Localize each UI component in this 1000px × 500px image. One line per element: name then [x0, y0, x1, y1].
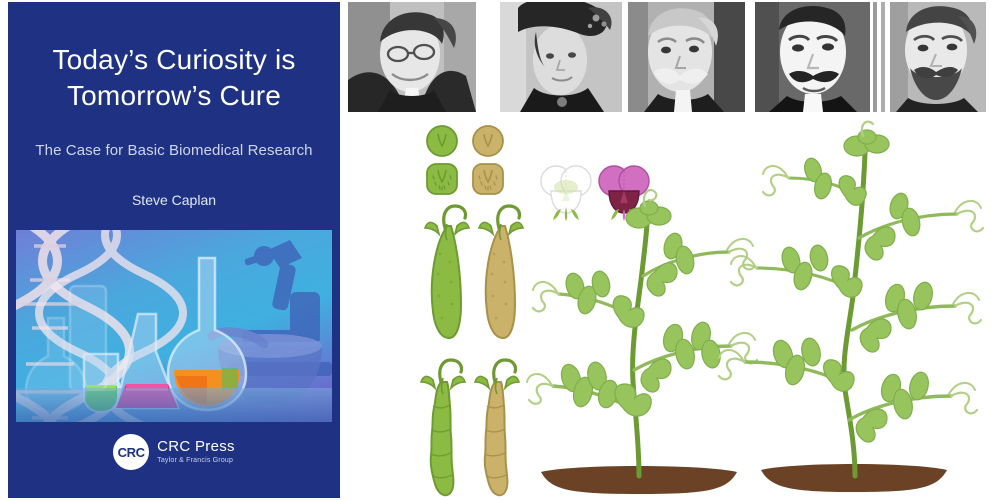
plant-tall	[715, 132, 995, 500]
seed-round-yellow-icon	[471, 124, 505, 158]
publisher-name: CRC Press	[157, 439, 235, 455]
portrait-sliver-2	[881, 2, 885, 112]
book-cover: Today’s Curiosity is Tomorrow’s Cure The…	[8, 2, 340, 498]
genetics-diagram	[345, 112, 1000, 500]
publisher-imprint: Taylor & Francis Group	[157, 457, 235, 464]
publisher-logo: CRC CRC Press Taylor & Francis Group	[8, 434, 340, 470]
seed-wrinkled-yellow-icon	[471, 162, 505, 196]
book-subtitle: The Case for Basic Biomedical Research	[8, 142, 340, 159]
portrait-2	[500, 2, 622, 112]
book-title-line-2: Tomorrow’s Cure	[8, 78, 340, 114]
crc-logo-mark: CRC	[113, 434, 149, 470]
book-title: Today’s Curiosity is Tomorrow’s Cure	[8, 42, 340, 114]
portrait-3	[628, 2, 745, 112]
cover-photograph	[16, 230, 332, 422]
portrait-strip	[345, 2, 995, 112]
seed-round-green-icon	[425, 124, 459, 158]
portrait-4	[755, 2, 870, 112]
bench-surface	[16, 388, 332, 422]
portrait-5	[890, 2, 986, 112]
book-title-line-1: Today’s Curiosity is	[52, 44, 295, 75]
portrait-1	[348, 2, 476, 112]
portrait-sliver-1	[873, 2, 877, 112]
book-author: Steve Caplan	[8, 192, 340, 208]
pod-constricted-green-icon	[419, 358, 469, 500]
publisher-text: CRC Press Taylor & Francis Group	[157, 439, 235, 464]
seed-wrinkled-green-icon	[425, 162, 459, 196]
pod-inflated-green-icon	[423, 204, 471, 344]
